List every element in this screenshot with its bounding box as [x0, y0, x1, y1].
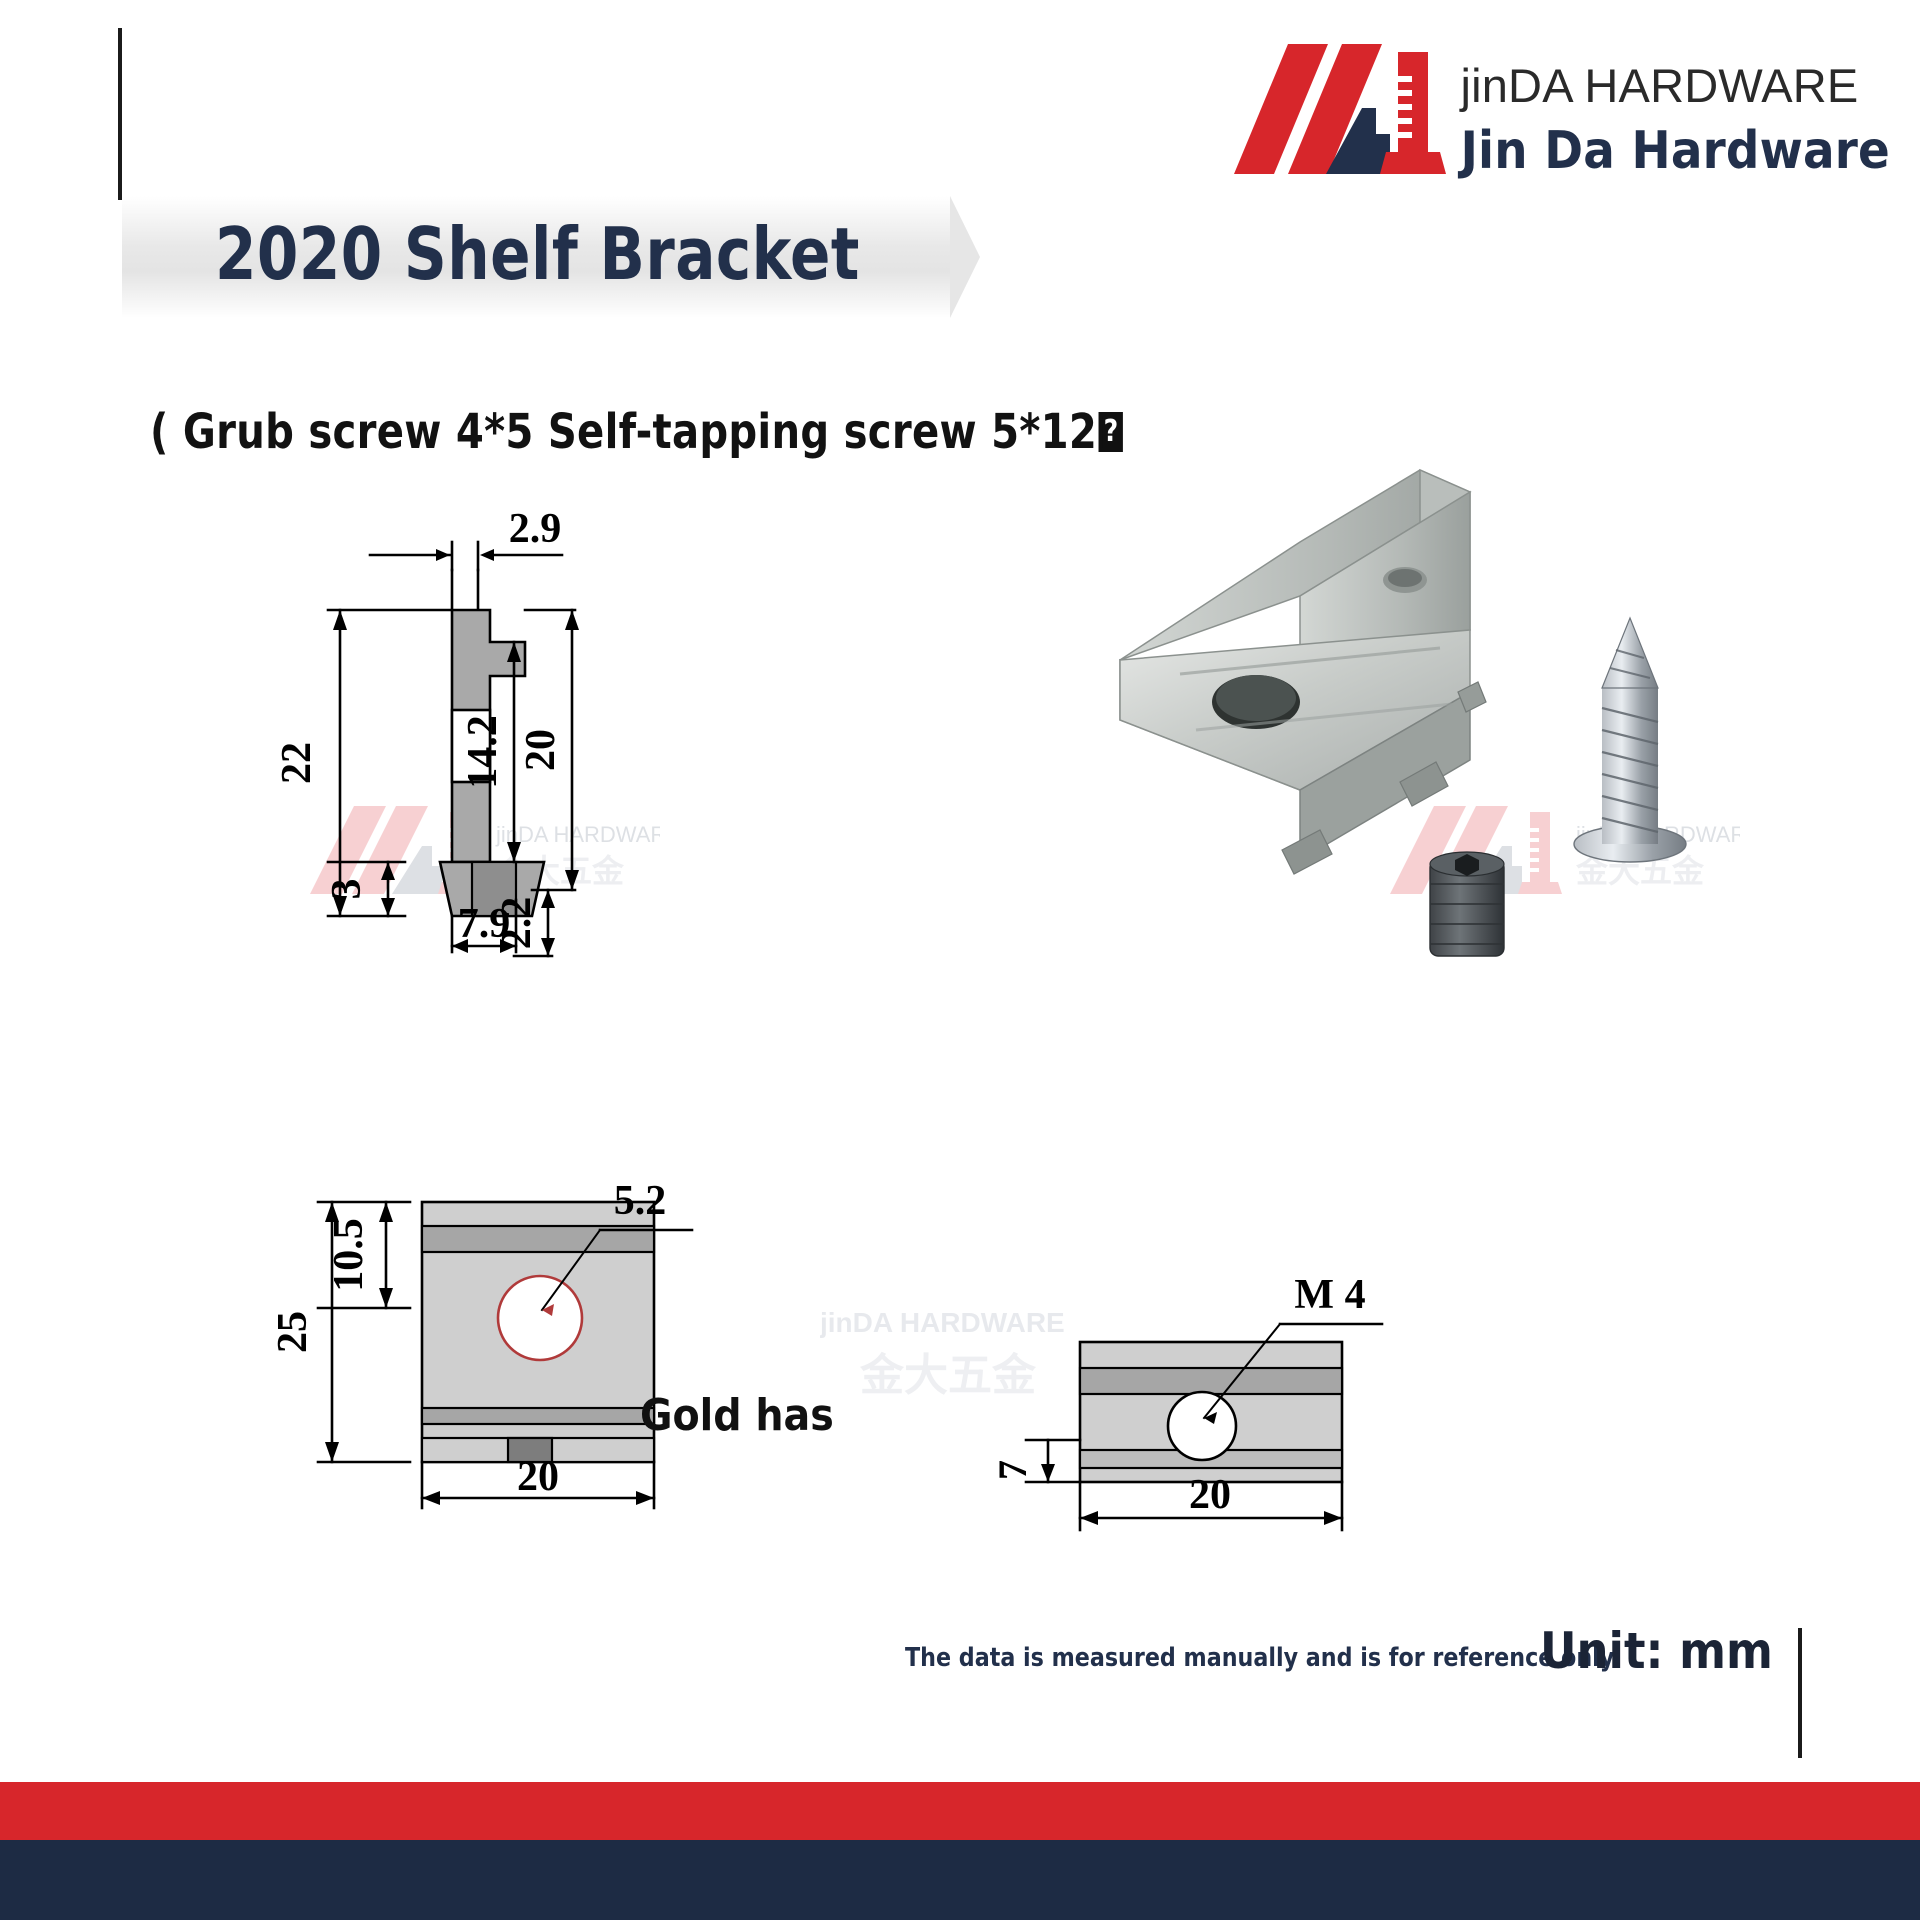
page-title: 2020 Shelf Bracket: [215, 212, 860, 296]
dim-height-right: 20: [518, 729, 564, 771]
dim-hole-diameter: 5.2: [614, 1178, 667, 1224]
dim-foot-height: 3: [324, 879, 370, 900]
dim-foot-width: 7.9: [458, 901, 511, 947]
disclaimer-text: The data is measured manually and is for…: [905, 1643, 1620, 1673]
front-view: 25 10.5 5.2 20: [300, 1190, 730, 1520]
brand-names: jinDA HARDWARE Jin Da Hardware: [1460, 22, 1890, 184]
grub-screw: [1430, 852, 1504, 956]
top-view: M 4 7 20 Gold has: [930, 1290, 1490, 1550]
product-photo: [1000, 430, 1760, 1130]
bracket-body: [1120, 470, 1486, 874]
footer-red-bar: [0, 1782, 1920, 1840]
self-tapping-screw: [1574, 618, 1686, 862]
note-gold-has: Gold has: [640, 1390, 834, 1441]
dim-width-top: 2.9: [509, 506, 562, 552]
dim-front-height: 25: [270, 1311, 316, 1353]
screw-spec-text: ( Grub screw 4*5 Self-tapping screw 5*12: [150, 404, 1097, 460]
screw-spec-subtitle: ( Grub screw 4*5 Self-tapping screw 5*12: [150, 404, 1123, 460]
brand-name-en: jinDA HARDWARE: [1460, 62, 1890, 109]
dim-thread-size: M 4: [1294, 1272, 1365, 1318]
dim-top-width: 20: [1189, 1472, 1231, 1518]
brand-name-pinyin: Jin Da Hardware: [1460, 119, 1890, 184]
unit-label: Unit: mm: [1540, 1622, 1773, 1680]
dim-front-width: 20: [517, 1454, 559, 1500]
dim-front-upper: 10.5: [326, 1218, 372, 1292]
dim-edge: 7: [990, 1460, 1035, 1480]
dim-height-inner: 14.2: [460, 715, 506, 789]
brand-header: jinDA HARDWARE Jin Da Hardware: [1176, 22, 1890, 184]
header-left-rule: [118, 28, 122, 200]
spec-sheet-page: jinDA HARDWARE Jin Da Hardware 2020 Shel…: [0, 0, 1920, 1920]
dim-height-overall: 22: [274, 742, 320, 784]
footer-navy-bar: [0, 1840, 1920, 1920]
side-profile-view: 2.9 22 3 14.2 20 2.2 7.9: [300, 600, 720, 1020]
footer-right-rule: [1798, 1628, 1802, 1758]
jinda-logo-icon: [1176, 22, 1446, 177]
